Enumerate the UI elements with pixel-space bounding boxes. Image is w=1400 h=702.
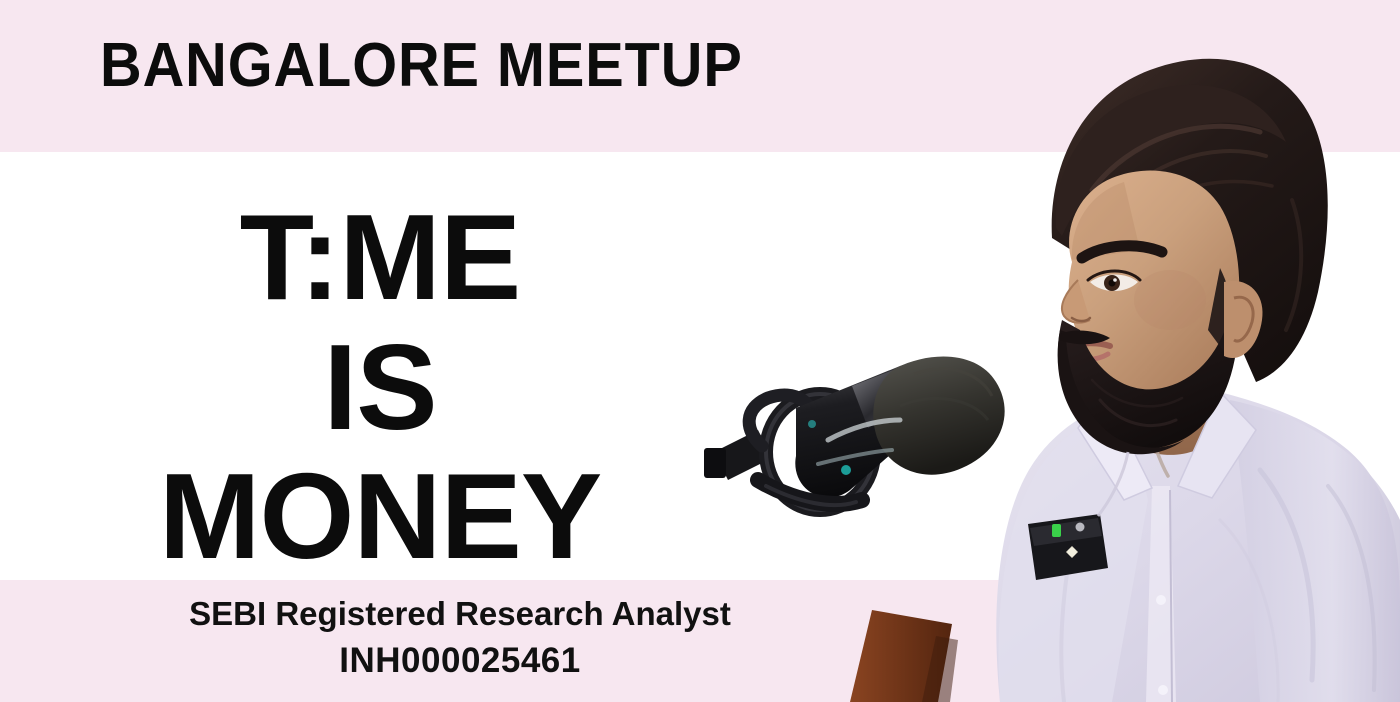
shirt-collar [1078, 392, 1256, 500]
headline-line-time: T:ME [0, 198, 760, 316]
poster-canvas: BANGALORE MEETUP T:ME IS MONEY SEBI Regi… [0, 0, 1400, 702]
ear [1224, 281, 1263, 358]
beard [1058, 268, 1239, 454]
credentials-block: SEBI Registered Research Analyst INH0000… [0, 594, 920, 682]
headline-line-is: IS [0, 328, 760, 446]
headline-line-money: MONEY [0, 457, 760, 575]
face [1062, 171, 1239, 403]
lapel-microphone [1028, 452, 1128, 580]
page-title: BANGALORE MEETUP [100, 33, 743, 98]
sebi-registration-number: INH000025461 [0, 639, 920, 683]
neck [1112, 300, 1216, 455]
sebi-registration-label: SEBI Registered Research Analyst [0, 594, 920, 634]
headline-block: T:ME IS MONEY [0, 198, 760, 575]
necklace [1144, 408, 1168, 476]
